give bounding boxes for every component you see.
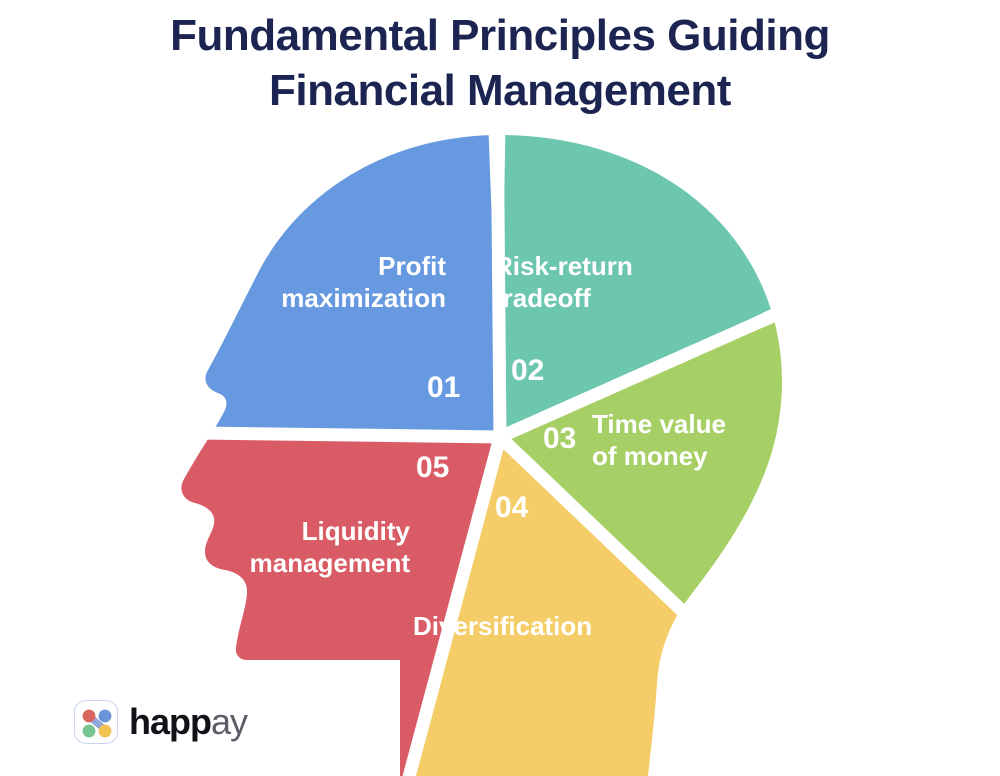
head-silhouette-svg bbox=[0, 0, 1000, 776]
logo-dot-bottom-left bbox=[83, 725, 96, 738]
logo-dot-top-left bbox=[83, 710, 96, 723]
head-pie-diagram: Profit maximization 01 Risk-return trade… bbox=[0, 0, 1000, 776]
happay-wordmark: happay bbox=[129, 704, 247, 740]
pie-segment-01[interactable] bbox=[48, 0, 500, 437]
happay-wordmark-bold: happ bbox=[129, 701, 211, 742]
happay-wordmark-light: ay bbox=[211, 701, 247, 742]
logo-dot-bottom-right bbox=[99, 725, 112, 738]
happay-dots-icon bbox=[75, 701, 119, 745]
happay-logo[interactable]: happay bbox=[74, 700, 247, 744]
happay-logo-mark-icon bbox=[74, 700, 118, 744]
logo-dot-top-right bbox=[99, 710, 112, 723]
